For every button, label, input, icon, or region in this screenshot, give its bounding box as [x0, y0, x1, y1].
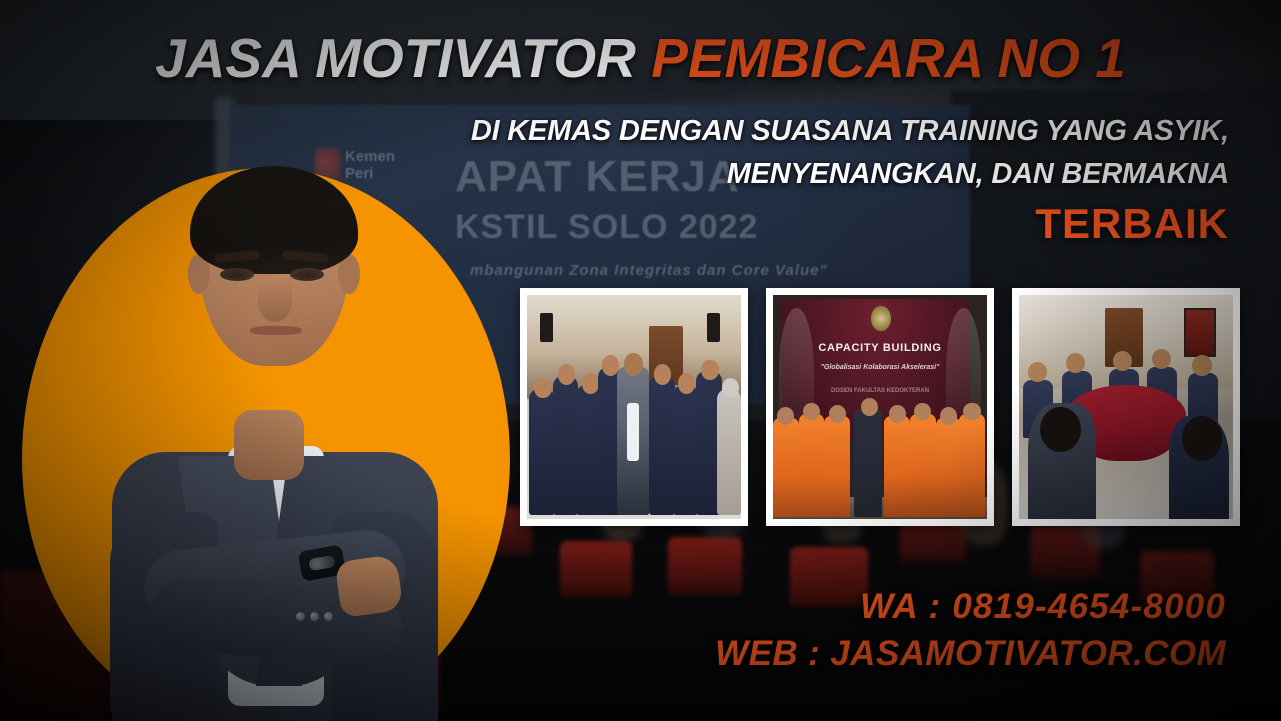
contact-block: WA : 0819-4654-8000 WEB : JASAMOTIVATOR.…: [715, 583, 1226, 677]
photo-card-round-table[interactable]: [1012, 288, 1240, 526]
portrait-neck: [234, 410, 304, 480]
terbaik-badge: TERBAIK: [1035, 200, 1229, 248]
photo-banner-subtitle: "Globalisasi Kolaborasi Akselerasi": [773, 364, 987, 371]
portrait-button: [310, 612, 319, 621]
photo-banner-title: CAPACITY BUILDING: [773, 342, 987, 354]
chair: [560, 541, 632, 597]
headline: JASA MOTIVATOR PEMBICARA NO 1: [0, 26, 1281, 90]
background-banner-line3: mbangunan Zona Integritas dan Core Value…: [470, 262, 828, 279]
portrait-nose: [258, 280, 292, 322]
background-banner-line2: KSTIL SOLO 2022: [455, 208, 758, 247]
subheadline: DI KEMAS DENGAN SUASANA TRAINING YANG AS…: [389, 110, 1229, 196]
poster-canvas: Kemen Peri APAT KERJA KSTIL SOLO 2022 mb…: [0, 0, 1281, 721]
portrait-mouth: [250, 326, 302, 335]
photo-image-capacity-building: CAPACITY BUILDING "Globalisasi Kolaboras…: [773, 295, 987, 519]
portrait-button: [296, 612, 305, 621]
headline-part-white: JASA MOTIVATOR: [155, 27, 636, 89]
photo-image-round-table: [1019, 295, 1233, 519]
portrait-button: [324, 612, 333, 621]
headline-part-orange: PEMBICARA NO 1: [651, 27, 1126, 89]
photo-card-cheering-group[interactable]: [520, 288, 748, 526]
subheadline-line1: DI KEMAS DENGAN SUASANA TRAINING YANG AS…: [389, 110, 1229, 153]
photo-card-capacity-building[interactable]: CAPACITY BUILDING "Globalisasi Kolaboras…: [766, 288, 994, 526]
portrait-eye-right: [290, 268, 324, 281]
portrait-eye-left: [220, 268, 254, 281]
website-url[interactable]: WEB : JASAMOTIVATOR.COM: [715, 630, 1226, 677]
subheadline-line2: MENYENANGKAN, DAN BERMAKNA: [389, 153, 1229, 196]
photo-banner-line3: DOSEN FAKULTAS KEDOKTERAN: [773, 387, 987, 395]
whatsapp-number[interactable]: WA : 0819-4654-8000: [715, 583, 1226, 630]
photo-image-cheering-group: [527, 295, 741, 519]
motivator-portrait: [110, 160, 440, 721]
photo-gallery: CAPACITY BUILDING "Globalisasi Kolaboras…: [520, 288, 1240, 526]
